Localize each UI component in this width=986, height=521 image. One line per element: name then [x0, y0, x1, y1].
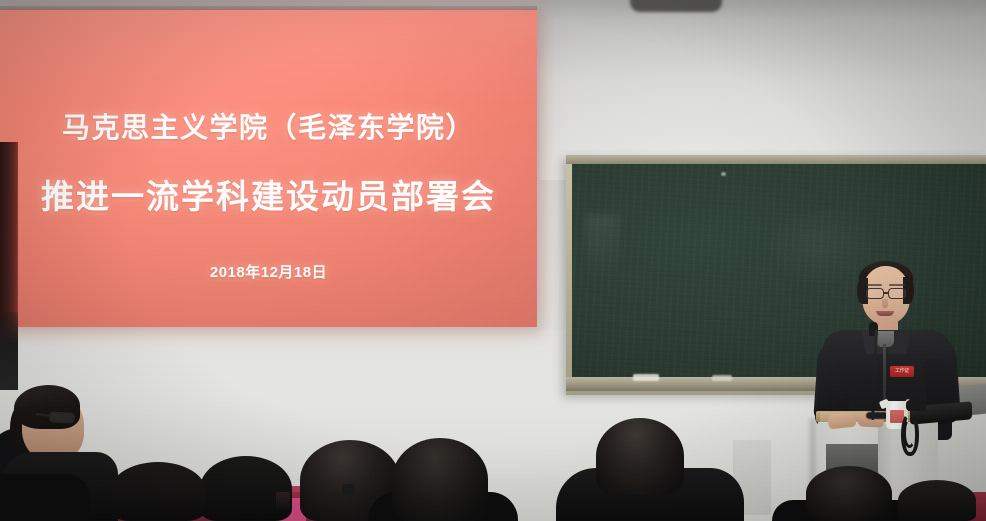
blackboard-smudge [586, 214, 620, 276]
chalk-mark [721, 172, 726, 176]
microphone-base [866, 412, 888, 419]
glasses-icon [49, 411, 76, 423]
glasses-icon [888, 288, 906, 299]
projector-mount-icon [630, 0, 722, 12]
slide-title-line-1: 马克思主义学院（毛泽东学院） [0, 106, 537, 146]
telephone-handset [906, 400, 926, 411]
handheld-device [342, 484, 355, 495]
slide-title-line-2: 推进一流学科建设动员部署会 [0, 170, 537, 218]
slide-date: 2018年12月18日 [0, 261, 537, 282]
audience-member [110, 462, 206, 521]
audience-member [596, 418, 684, 494]
presenter-mouth [876, 311, 894, 316]
chalk-stick-icon [633, 374, 659, 381]
presenter-nose [882, 299, 888, 308]
door-frame-shadow [0, 312, 18, 390]
projection-screen: 马克思主义学院（毛泽东学院） 推进一流学科建设动员部署会 2018年12月18日 [0, 10, 537, 327]
handheld-device [276, 492, 290, 509]
presenter-badge-label: 工作证 [890, 366, 914, 377]
audience-member [0, 474, 90, 521]
presenter-eyebrow-right [889, 284, 905, 286]
blackboard-top-lip [566, 155, 986, 164]
glasses-icon [866, 288, 884, 299]
audience-member [200, 456, 292, 521]
presenter-eyebrow-left [866, 284, 882, 286]
wall-light-sheen [540, 0, 986, 180]
audience-member [898, 480, 976, 521]
presenter-left-hand [827, 412, 856, 430]
lecture-hall-photo: 马克思主义学院（毛泽东学院） 推进一流学科建设动员部署会 2018年12月18日… [0, 0, 986, 521]
audience-member [392, 438, 488, 521]
glasses-bridge-icon [883, 292, 889, 294]
slide-content: 马克思主义学院（毛泽东学院） 推进一流学科建设动员部署会 2018年12月18日 [0, 10, 537, 327]
telephone-cord [903, 418, 916, 448]
audience-member [806, 466, 892, 521]
chalk-stick-icon [712, 375, 732, 381]
presenter-jacket-zipper [883, 344, 886, 406]
